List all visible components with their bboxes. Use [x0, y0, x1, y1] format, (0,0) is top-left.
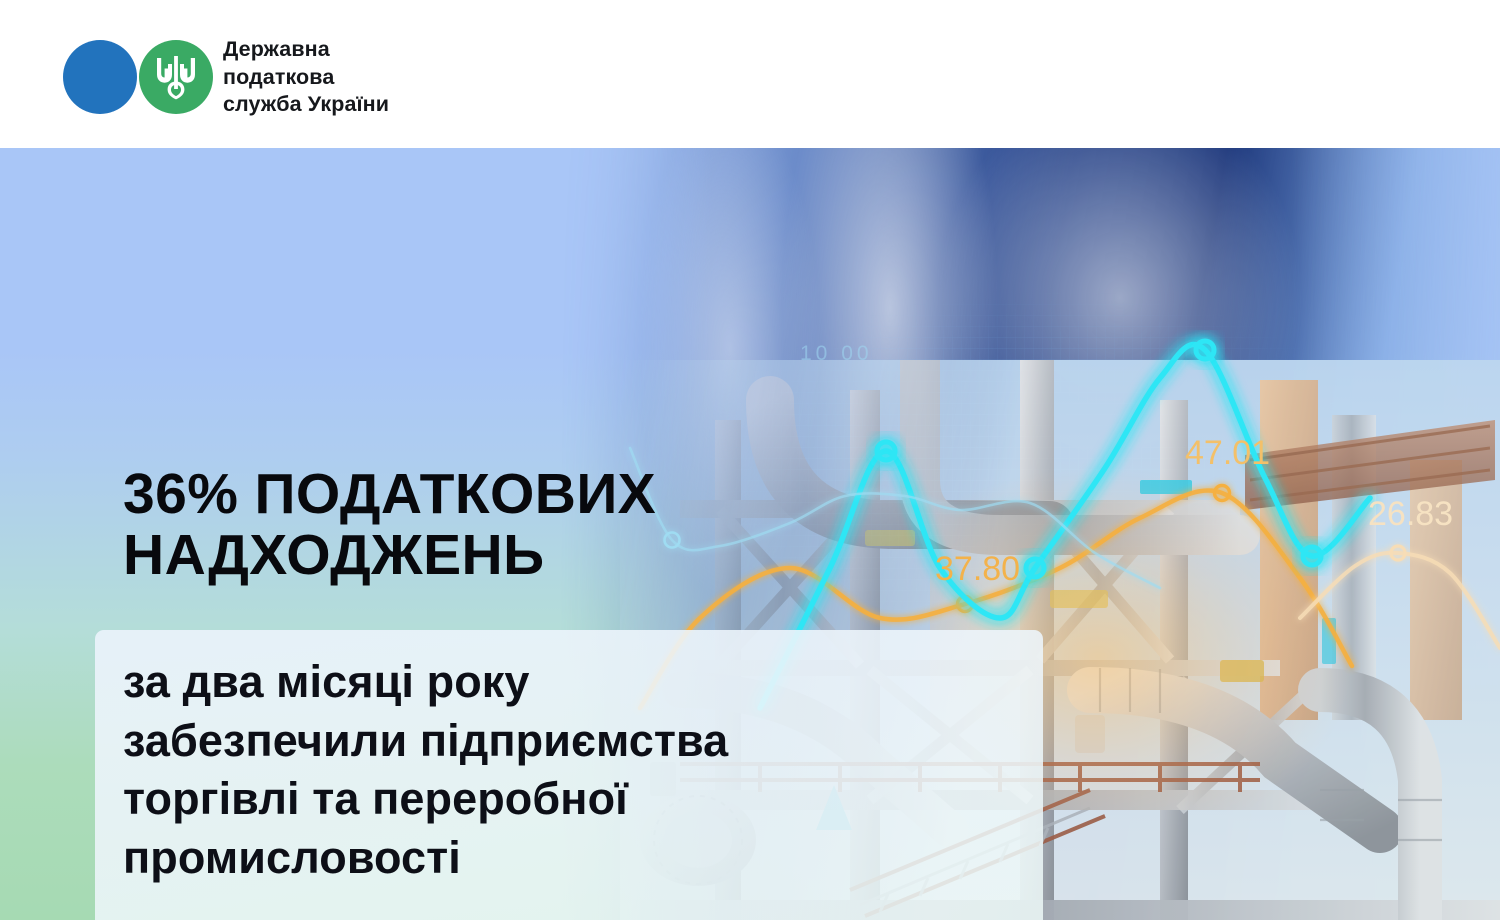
blue-circle-icon — [63, 40, 137, 114]
chart-label-37.80: 37.80 — [935, 550, 1020, 588]
ukraine-trident-icon — [155, 54, 197, 101]
logo[interactable]: Державна податкова служба України — [63, 36, 389, 119]
page-title: 36% ПОДАТКОВИХ НАДХОДЖЕНЬ — [123, 464, 656, 586]
org-name: Державна податкова служба України — [223, 36, 389, 119]
digital-readout: 10 00 — [800, 342, 873, 365]
infographic-poster: 37.8047.0126.83 10 00 36% ПОДАТКОВИХ НАД… — [0, 0, 1500, 920]
hero-image-area: 37.8047.0126.83 10 00 36% ПОДАТКОВИХ НАД… — [0, 148, 1500, 920]
chart-label-47.01: 47.01 — [1185, 434, 1270, 472]
chart-label-26.83: 26.83 — [1368, 495, 1453, 533]
chart-value-labels: 37.8047.0126.83 — [935, 434, 1453, 588]
page-subtitle: за два місяці року забезпечили підприємс… — [123, 653, 1023, 887]
brand-banner: Державна податкова служба України — [0, 0, 1500, 148]
chart-line-pale-cyan-thin — [630, 448, 1160, 588]
logo-marks — [63, 40, 213, 114]
chart-line-cream — [1300, 553, 1500, 648]
